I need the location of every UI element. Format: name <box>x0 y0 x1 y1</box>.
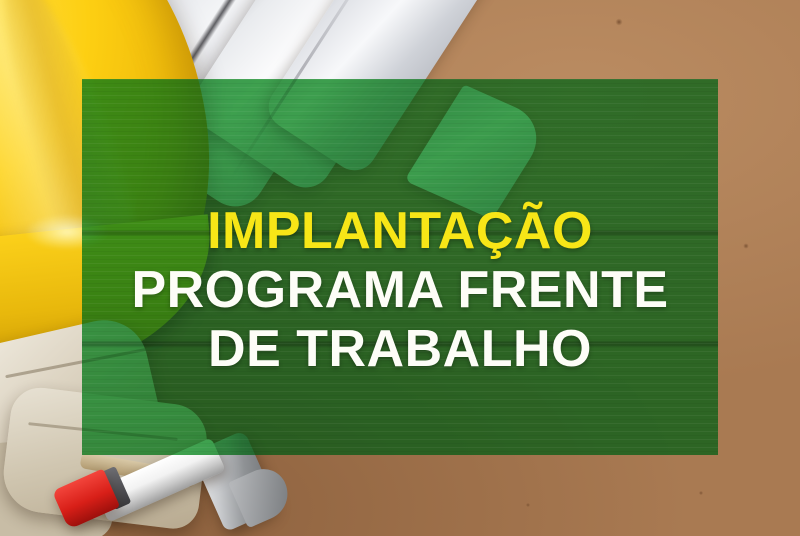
headline-block: IMPLANTAÇÃO PROGRAMA FRENTE DE TRABALHO <box>82 79 718 455</box>
headline-line-de-trabalho: DE TRABALHO <box>208 323 592 375</box>
headline-line-programa-frente: PROGRAMA FRENTE <box>131 264 668 316</box>
headline-line-implantacao: IMPLANTAÇÃO <box>207 205 593 257</box>
poster-banner: IMPLANTAÇÃO PROGRAMA FRENTE DE TRABALHO <box>0 0 800 536</box>
